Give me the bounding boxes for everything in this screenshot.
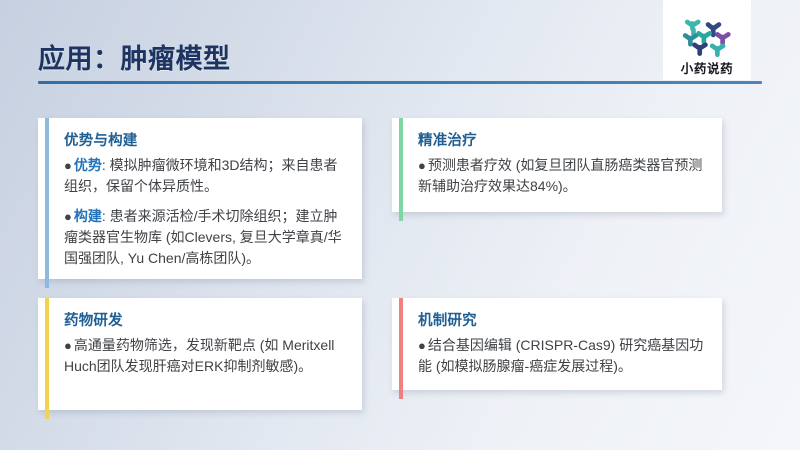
slide-canvas: 应用：肿瘤模型 小药说药 bbox=[0, 0, 800, 450]
bullet-dot-icon: ● bbox=[418, 338, 428, 353]
bullet-dot-icon: ● bbox=[64, 338, 74, 353]
bullet-item: ●预测患者疗效 (如复旦团队直肠癌类器官预测新辅助治疗效果达84%)。 bbox=[418, 155, 709, 197]
bullet-item: ●高通量药物筛选，发现新靶点 (如 Meritxell Huch团队发现肝癌对E… bbox=[64, 335, 349, 377]
card-heading: 机制研究 bbox=[418, 311, 709, 331]
card-heading: 精准治疗 bbox=[418, 131, 709, 151]
card-accent-bar-drug-development bbox=[45, 298, 49, 419]
page-title: 应用：肿瘤模型 bbox=[38, 40, 231, 78]
card-content: 药物研发 ●高通量药物筛选，发现新靶点 (如 Meritxell Huch团队发… bbox=[64, 311, 349, 377]
brand-wordmark: 小药说药 bbox=[681, 62, 733, 76]
card-content: 机制研究 ●结合基因编辑 (CRISPR-Cas9) 研究癌基因功能 (如模拟肠… bbox=[418, 311, 709, 377]
card-accent-bar-advantages bbox=[45, 118, 49, 288]
bullet-item: ●构建: 患者来源活检/手术切除组织；建立肿瘤类器官生物库 (如Clevers,… bbox=[64, 206, 349, 269]
molecule-cluster-logo-icon bbox=[681, 13, 733, 61]
bullet-separator: : bbox=[102, 208, 110, 224]
card-advantages: 优势与构建 ●优势: 模拟肿瘤微环境和3D结构；来自患者组织，保留个体异质性。 … bbox=[38, 118, 362, 279]
bullet-text: 高通量药物筛选，发现新靶点 (如 Meritxell Huch团队发现肝癌对ER… bbox=[64, 337, 334, 374]
bullet-text: 预测患者疗效 (如复旦团队直肠癌类器官预测新辅助治疗效果达84%)。 bbox=[418, 157, 702, 194]
bullet-item: ●结合基因编辑 (CRISPR-Cas9) 研究癌基因功能 (如模拟肠腺瘤-癌症… bbox=[418, 335, 709, 377]
bullet-dot-icon: ● bbox=[64, 158, 74, 173]
card-content: 精准治疗 ●预测患者疗效 (如复旦团队直肠癌类器官预测新辅助治疗效果达84%)。 bbox=[418, 131, 709, 197]
bullet-dot-icon: ● bbox=[418, 158, 428, 173]
title-underline-rule bbox=[38, 81, 762, 84]
bullet-dot-icon: ● bbox=[64, 209, 74, 224]
bullet-text: 结合基因编辑 (CRISPR-Cas9) 研究癌基因功能 (如模拟肠腺瘤-癌症发… bbox=[418, 337, 703, 374]
card-accent-bar-precision bbox=[399, 118, 403, 221]
card-precision: 精准治疗 ●预测患者疗效 (如复旦团队直肠癌类器官预测新辅助治疗效果达84%)。 bbox=[392, 118, 722, 212]
card-heading: 药物研发 bbox=[64, 311, 349, 331]
card-drug-development: 药物研发 ●高通量药物筛选，发现新靶点 (如 Meritxell Huch团队发… bbox=[38, 298, 362, 410]
bullet-item: ●优势: 模拟肿瘤微环境和3D结构；来自患者组织，保留个体异质性。 bbox=[64, 155, 349, 197]
card-mechanism-research: 机制研究 ●结合基因编辑 (CRISPR-Cas9) 研究癌基因功能 (如模拟肠… bbox=[392, 298, 722, 390]
card-accent-bar-mechanism-research bbox=[399, 298, 403, 399]
brand-logo: 小药说药 bbox=[663, 0, 751, 80]
bullet-separator: : bbox=[102, 157, 110, 173]
bullet-label: 优势 bbox=[74, 157, 102, 173]
card-heading: 优势与构建 bbox=[64, 131, 349, 151]
bullet-label: 构建 bbox=[74, 208, 102, 224]
card-content: 优势与构建 ●优势: 模拟肿瘤微环境和3D结构；来自患者组织，保留个体异质性。 … bbox=[64, 131, 349, 269]
